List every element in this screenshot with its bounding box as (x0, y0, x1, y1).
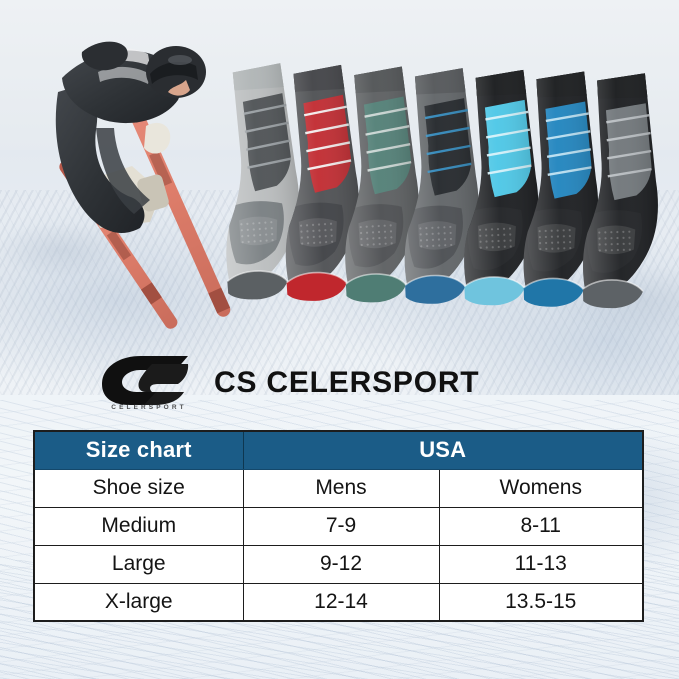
region-header: USA (243, 431, 643, 469)
logo-subtext: CELERSPORT (106, 404, 192, 411)
row-size-label: Large (34, 545, 243, 583)
cs-logo-mark: CELERSPORT (100, 354, 192, 412)
column-header-row: Shoe size Mens Womens (34, 469, 643, 507)
size-chart-table: Size chart USA Shoe size Mens Womens Med… (33, 430, 644, 622)
row-mens-value: 7-9 (243, 507, 439, 545)
ski-socks-lineup (218, 55, 679, 315)
table-header-row: Size chart USA (34, 431, 643, 469)
table-row: Medium 7-9 8-11 (34, 507, 643, 545)
row-size-label: X-large (34, 583, 243, 621)
row-mens-value: 9-12 (243, 545, 439, 583)
brand-name: CS CELERSPORT (214, 368, 479, 398)
row-womens-value: 11-13 (439, 545, 643, 583)
size-chart-body: Shoe size Mens Womens Medium 7-9 8-11 La… (34, 469, 643, 621)
size-chart-title: Size chart (34, 431, 243, 469)
skier-photo (0, 0, 250, 360)
brand-lockup: CELERSPORT CS CELERSPORT (100, 352, 570, 414)
column-header-mens: Mens (243, 469, 439, 507)
product-image-stage: CELERSPORT CS CELERSPORT Size chart USA … (0, 0, 679, 679)
table-row: X-large 12-14 13.5-15 (34, 583, 643, 621)
row-womens-value: 8-11 (439, 507, 643, 545)
row-womens-value: 13.5-15 (439, 583, 643, 621)
row-size-label: Medium (34, 507, 243, 545)
column-header-shoe-size: Shoe size (34, 469, 243, 507)
row-mens-value: 12-14 (243, 583, 439, 621)
table-row: Large 9-12 11-13 (34, 545, 643, 583)
skier-glove (144, 123, 170, 154)
column-header-womens: Womens (439, 469, 643, 507)
